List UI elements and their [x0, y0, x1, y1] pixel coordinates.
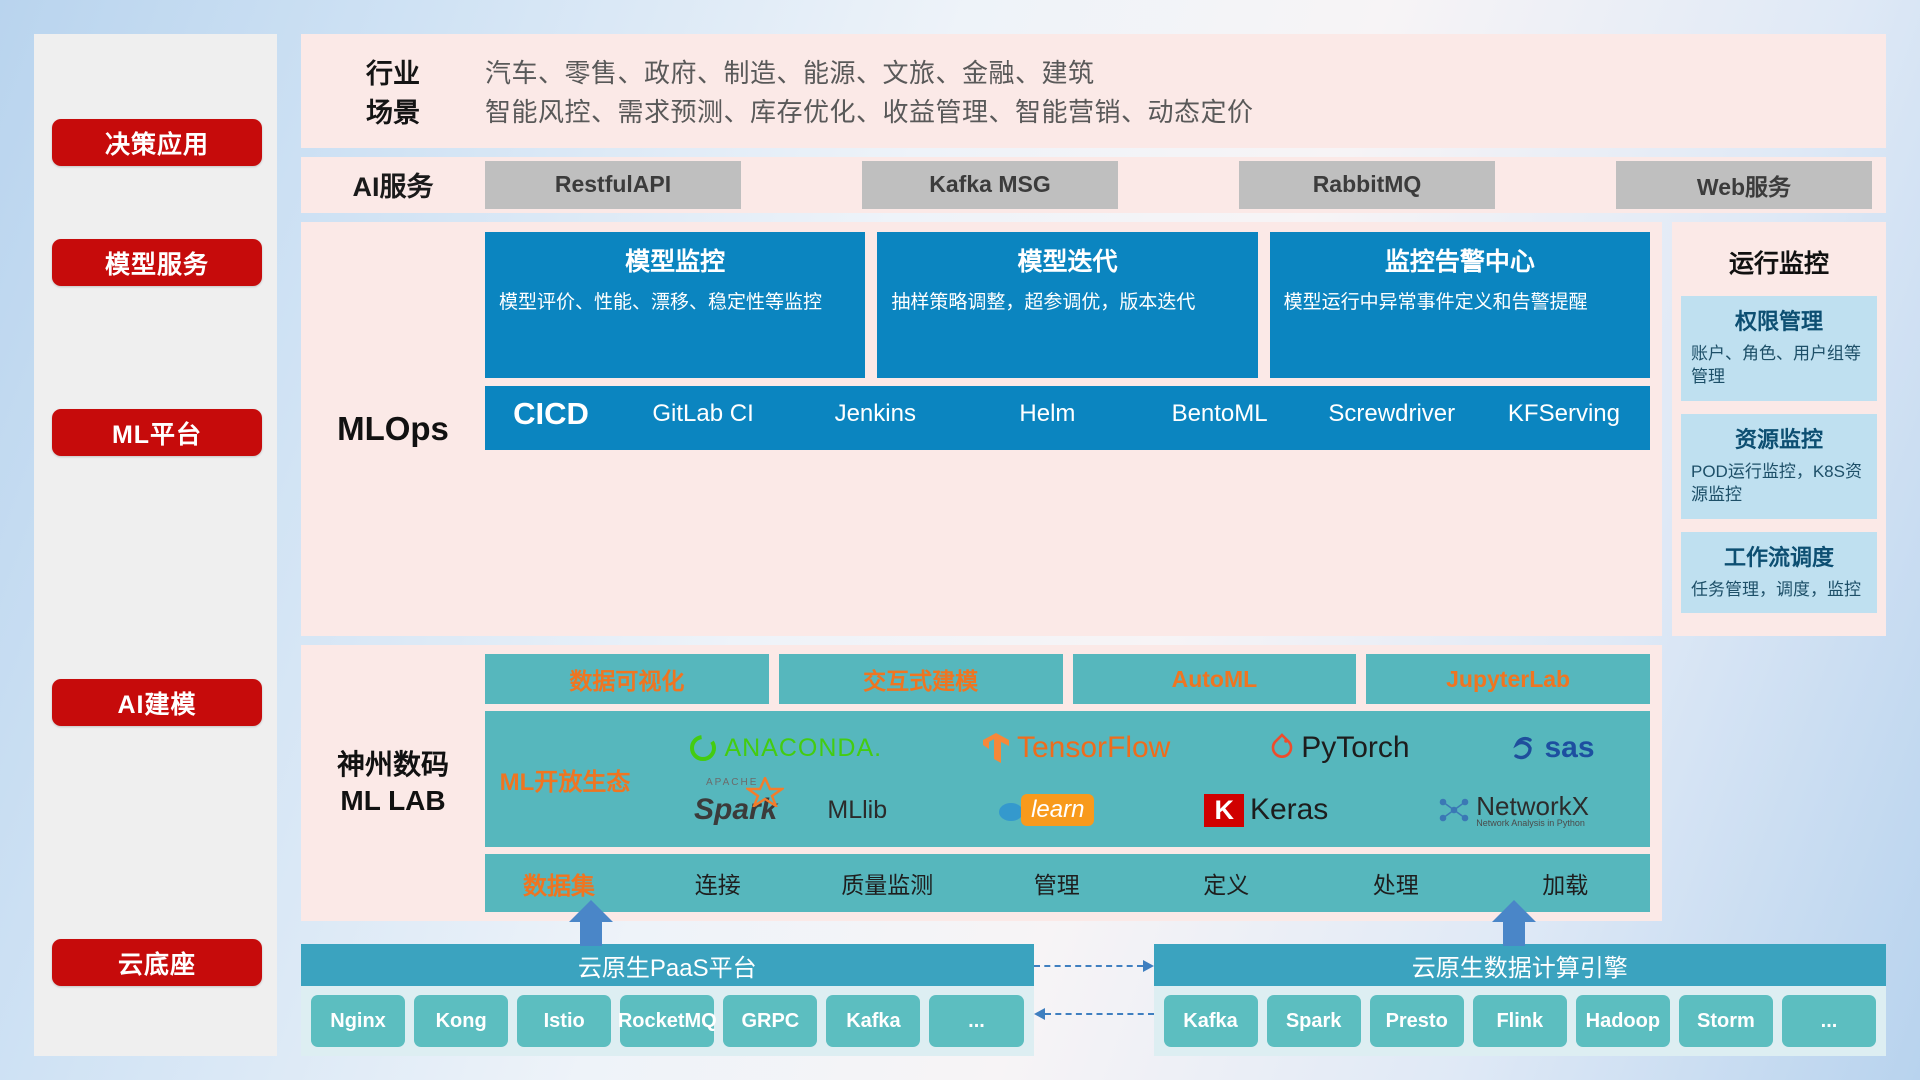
card-desc: 模型评价、性能、漂移、稳定性等监控: [499, 290, 851, 316]
ml-lab-content: 数据可视化 交互式建模 AutoML JupyterLab ML开放生态: [485, 654, 1650, 912]
ml-lab-band: 神州数码 ML LAB 数据可视化 交互式建模 AutoML JupyterLa…: [301, 645, 1662, 921]
cicd-item-jenkins[interactable]: Jenkins: [789, 386, 961, 429]
mlops-card-model-iteration[interactable]: 模型迭代 抽样策略调整，超参调优，版本迭代: [877, 232, 1257, 378]
ml-ecosystem-label: ML开放生态: [491, 762, 639, 797]
engine-chip-list: Kafka Spark Presto Flink Hadoop Storm ..…: [1154, 986, 1887, 1056]
paas-chip-kong[interactable]: Kong: [414, 995, 508, 1047]
card-title: 模型迭代: [891, 242, 1243, 278]
pytorch-label: PyTorch: [1301, 731, 1409, 765]
anaconda-label: ANACONDA.: [724, 734, 882, 763]
card-title: 工作流调度: [1691, 540, 1867, 572]
keras-logo: K Keras: [1204, 793, 1328, 827]
paas-up-arrow-icon: [569, 900, 613, 946]
tensorflow-logo: TensorFlow: [981, 731, 1170, 765]
application-labels: 行业 场景: [301, 52, 485, 130]
layer-rail: 决策应用 模型服务 ML平台 AI建模 云底座: [34, 34, 277, 1056]
paas-chip-kafka[interactable]: Kafka: [826, 995, 920, 1047]
ml-lab-label-line2: ML LAB: [340, 783, 445, 819]
card-desc: POD运行监控，K8S资源监控: [1691, 461, 1867, 507]
tensorflow-label: TensorFlow: [1017, 731, 1170, 765]
spark-star-icon: [746, 777, 784, 807]
cicd-item-helm[interactable]: Helm: [961, 386, 1133, 429]
cicd-item-kfserving[interactable]: KFServing: [1478, 386, 1650, 429]
engine-chip-more[interactable]: ...: [1782, 995, 1876, 1047]
cloud-zone: 云原生PaaS平台 Nginx Kong Istio RocketMQ GRPC…: [301, 935, 1886, 1056]
lab-row-spacer: [1672, 645, 1886, 921]
cicd-bar: CICD GitLab CI Jenkins Helm BentoML Scre…: [485, 386, 1650, 450]
dataset-row: 数据集 连接 质量监测 管理 定义 处理 加载: [485, 854, 1650, 912]
paas-title: 云原生PaaS平台: [301, 944, 1034, 986]
mlops-band: MLOps 模型监控 模型评价、性能、漂移、稳定性等监控 模型迭代 抽样策略调整…: [301, 222, 1662, 637]
runtime-monitoring-column: 运行监控 权限管理 账户、角色、用户组等管理 资源监控 POD运行监控，K8S资…: [1672, 222, 1886, 637]
arrow-right-icon: [1034, 960, 1154, 972]
service-chip-kafka-msg[interactable]: Kafka MSG: [862, 161, 1118, 209]
mlops-zone: MLOps 模型监控 模型评价、性能、漂移、稳定性等监控 模型迭代 抽样策略调整…: [301, 222, 1886, 637]
dataset-item-manage[interactable]: 管理: [972, 866, 1142, 900]
rail-item-model-service[interactable]: 模型服务: [52, 239, 262, 286]
dataset-item-quality[interactable]: 质量监测: [803, 866, 973, 900]
runtime-monitoring-title: 运行监控: [1681, 232, 1877, 296]
ml-lab-zone: 神州数码 ML LAB 数据可视化 交互式建模 AutoML JupyterLa…: [301, 645, 1886, 921]
rail-item-ai-modeling[interactable]: AI建模: [52, 679, 262, 726]
cloud-link-arrows: [1034, 960, 1154, 1056]
cicd-item-bentoml[interactable]: BentoML: [1134, 386, 1306, 429]
dataset-item-define[interactable]: 定义: [1142, 866, 1312, 900]
ml-ecosystem-row: ML开放生态 ANACONDA.: [485, 711, 1650, 847]
paas-chip-grpc[interactable]: GRPC: [723, 995, 817, 1047]
lab-tab-interactive-modeling[interactable]: 交互式建模: [779, 654, 1063, 704]
dataset-item-load[interactable]: 加载: [1481, 866, 1651, 900]
lab-tab-automl[interactable]: AutoML: [1073, 654, 1357, 704]
monitor-card-workflow[interactable]: 工作流调度 任务管理，调度，监控: [1681, 532, 1877, 614]
keras-mark-icon: K: [1204, 794, 1244, 827]
mlops-content: 模型监控 模型评价、性能、漂移、稳定性等监控 模型迭代 抽样策略调整，超参调优，…: [485, 232, 1650, 627]
engine-chip-kafka[interactable]: Kafka: [1164, 995, 1258, 1047]
dataset-item-connect[interactable]: 连接: [633, 866, 803, 900]
data-engine-block: 云原生数据计算引擎 Kafka Spark Presto Flink Hadoo…: [1154, 944, 1887, 1056]
ai-service-label: AI服务: [301, 165, 485, 204]
industry-value: 汽车、零售、政府、制造、能源、文旅、金融、建筑: [485, 53, 1254, 90]
architecture-diagram: 决策应用 模型服务 ML平台 AI建模 云底座 行业 场景 汽车、零售、政府、制…: [0, 0, 1920, 1080]
dataset-items: 连接 质量监测 管理 定义 处理 加载: [633, 866, 1650, 900]
networkx-sublabel: Network Analysis in Python: [1476, 819, 1589, 828]
engine-chip-presto[interactable]: Presto: [1370, 995, 1464, 1047]
paas-block: 云原生PaaS平台 Nginx Kong Istio RocketMQ GRPC…: [301, 944, 1034, 1056]
lab-tab-jupyterlab[interactable]: JupyterLab: [1366, 654, 1650, 704]
paas-chip-istio[interactable]: Istio: [517, 995, 611, 1047]
keras-label: Keras: [1250, 793, 1328, 827]
cicd-items: GitLab CI Jenkins Helm BentoML Screwdriv…: [617, 386, 1650, 429]
ml-ecosystem-logos: ANACONDA. TensorFlow: [639, 719, 1644, 839]
mlops-label: MLOps: [301, 232, 485, 627]
mlops-card-alert-center[interactable]: 监控告警中心 模型运行中异常事件定义和告警提醒: [1270, 232, 1650, 378]
service-chip-web[interactable]: Web服务: [1616, 161, 1872, 209]
tensorflow-icon: [981, 731, 1011, 765]
ml-lab-label: 神州数码 ML LAB: [301, 654, 485, 912]
cicd-title: CICD: [485, 386, 617, 432]
scenario-label: 场景: [301, 91, 485, 130]
rail-item-ml-platform[interactable]: ML平台: [52, 409, 262, 456]
card-desc: 任务管理，调度，监控: [1691, 579, 1867, 602]
data-engine-title: 云原生数据计算引擎: [1154, 944, 1887, 986]
ai-service-band: AI服务 RestfulAPI Kafka MSG RabbitMQ Web服务: [301, 157, 1886, 213]
card-title: 监控告警中心: [1284, 242, 1636, 278]
networkx-label: NetworkX: [1476, 793, 1589, 819]
scenario-value: 智能风控、需求预测、库存优化、收益管理、智能营销、动态定价: [485, 92, 1254, 129]
card-title: 资源监控: [1691, 422, 1867, 454]
card-desc: 账户、角色、用户组等管理: [1691, 343, 1867, 389]
engine-chip-spark[interactable]: Spark: [1267, 995, 1361, 1047]
anaconda-logo: ANACONDA.: [688, 733, 882, 763]
paas-chip-rocketmq[interactable]: RocketMQ: [620, 995, 714, 1047]
mlops-card-model-monitoring[interactable]: 模型监控 模型评价、性能、漂移、稳定性等监控: [485, 232, 865, 378]
card-title: 模型监控: [499, 242, 851, 278]
ml-lab-tabs: 数据可视化 交互式建模 AutoML JupyterLab: [485, 654, 1650, 704]
rail-item-cloud-base[interactable]: 云底座: [52, 939, 262, 986]
arrow-left-icon: [1034, 1008, 1154, 1020]
monitor-card-resource[interactable]: 资源监控 POD运行监控，K8S资源监控: [1681, 414, 1877, 519]
application-band: 行业 场景 汽车、零售、政府、制造、能源、文旅、金融、建筑 智能风控、需求预测、…: [301, 34, 1886, 148]
dataset-item-process[interactable]: 处理: [1311, 866, 1481, 900]
paas-chip-more[interactable]: ...: [929, 995, 1023, 1047]
application-values: 汽车、零售、政府、制造、能源、文旅、金融、建筑 智能风控、需求预测、库存优化、收…: [485, 52, 1254, 130]
monitor-card-permission[interactable]: 权限管理 账户、角色、用户组等管理: [1681, 296, 1877, 401]
scikit-learn-label: learn: [1021, 794, 1094, 826]
paas-chip-list: Nginx Kong Istio RocketMQ GRPC Kafka ...: [301, 986, 1034, 1056]
engine-chip-storm[interactable]: Storm: [1679, 995, 1773, 1047]
mlops-card-list: 模型监控 模型评价、性能、漂移、稳定性等监控 模型迭代 抽样策略调整，超参调优，…: [485, 232, 1650, 378]
sas-logo: sas: [1508, 731, 1594, 765]
networkx-logo: NetworkX Network Analysis in Python: [1438, 793, 1589, 828]
networkx-icon: [1438, 796, 1470, 824]
service-chip-restfulapi[interactable]: RestfulAPI: [485, 161, 741, 209]
lab-tab-data-visualization[interactable]: 数据可视化: [485, 654, 769, 704]
card-title: 权限管理: [1691, 304, 1867, 336]
service-chip-rabbitmq[interactable]: RabbitMQ: [1239, 161, 1495, 209]
pytorch-logo: PyTorch: [1269, 731, 1409, 765]
card-desc: 抽样策略调整，超参调优，版本迭代: [891, 290, 1243, 316]
cicd-item-gitlab-ci[interactable]: GitLab CI: [617, 386, 789, 429]
anaconda-icon: [688, 733, 718, 763]
main-column: 行业 场景 汽车、零售、政府、制造、能源、文旅、金融、建筑 智能风控、需求预测、…: [301, 34, 1886, 1056]
spark-mllib-logo: APACHE Spark MLlib: [694, 793, 887, 827]
ecosystem-logo-row-2: APACHE Spark MLlib: [639, 781, 1644, 839]
ai-service-items: RestfulAPI Kafka MSG RabbitMQ Web服务: [485, 161, 1886, 209]
pytorch-icon: [1269, 733, 1295, 763]
engine-chip-flink[interactable]: Flink: [1473, 995, 1567, 1047]
rail-item-decision-app[interactable]: 决策应用: [52, 119, 262, 166]
paas-chip-nginx[interactable]: Nginx: [311, 995, 405, 1047]
sas-label: sas: [1544, 731, 1594, 765]
sas-icon: [1508, 733, 1538, 763]
dataset-label: 数据集: [485, 866, 633, 901]
card-desc: 模型运行中异常事件定义和告警提醒: [1284, 290, 1636, 316]
engine-chip-hadoop[interactable]: Hadoop: [1576, 995, 1670, 1047]
cicd-item-screwdriver[interactable]: Screwdriver: [1306, 386, 1478, 429]
scikit-learn-logo: learn: [997, 794, 1094, 826]
industry-label: 行业: [301, 52, 485, 91]
ml-lab-label-line1: 神州数码: [337, 747, 449, 783]
engine-up-arrow-icon: [1492, 900, 1536, 946]
ecosystem-logo-row-1: ANACONDA. TensorFlow: [639, 719, 1644, 777]
